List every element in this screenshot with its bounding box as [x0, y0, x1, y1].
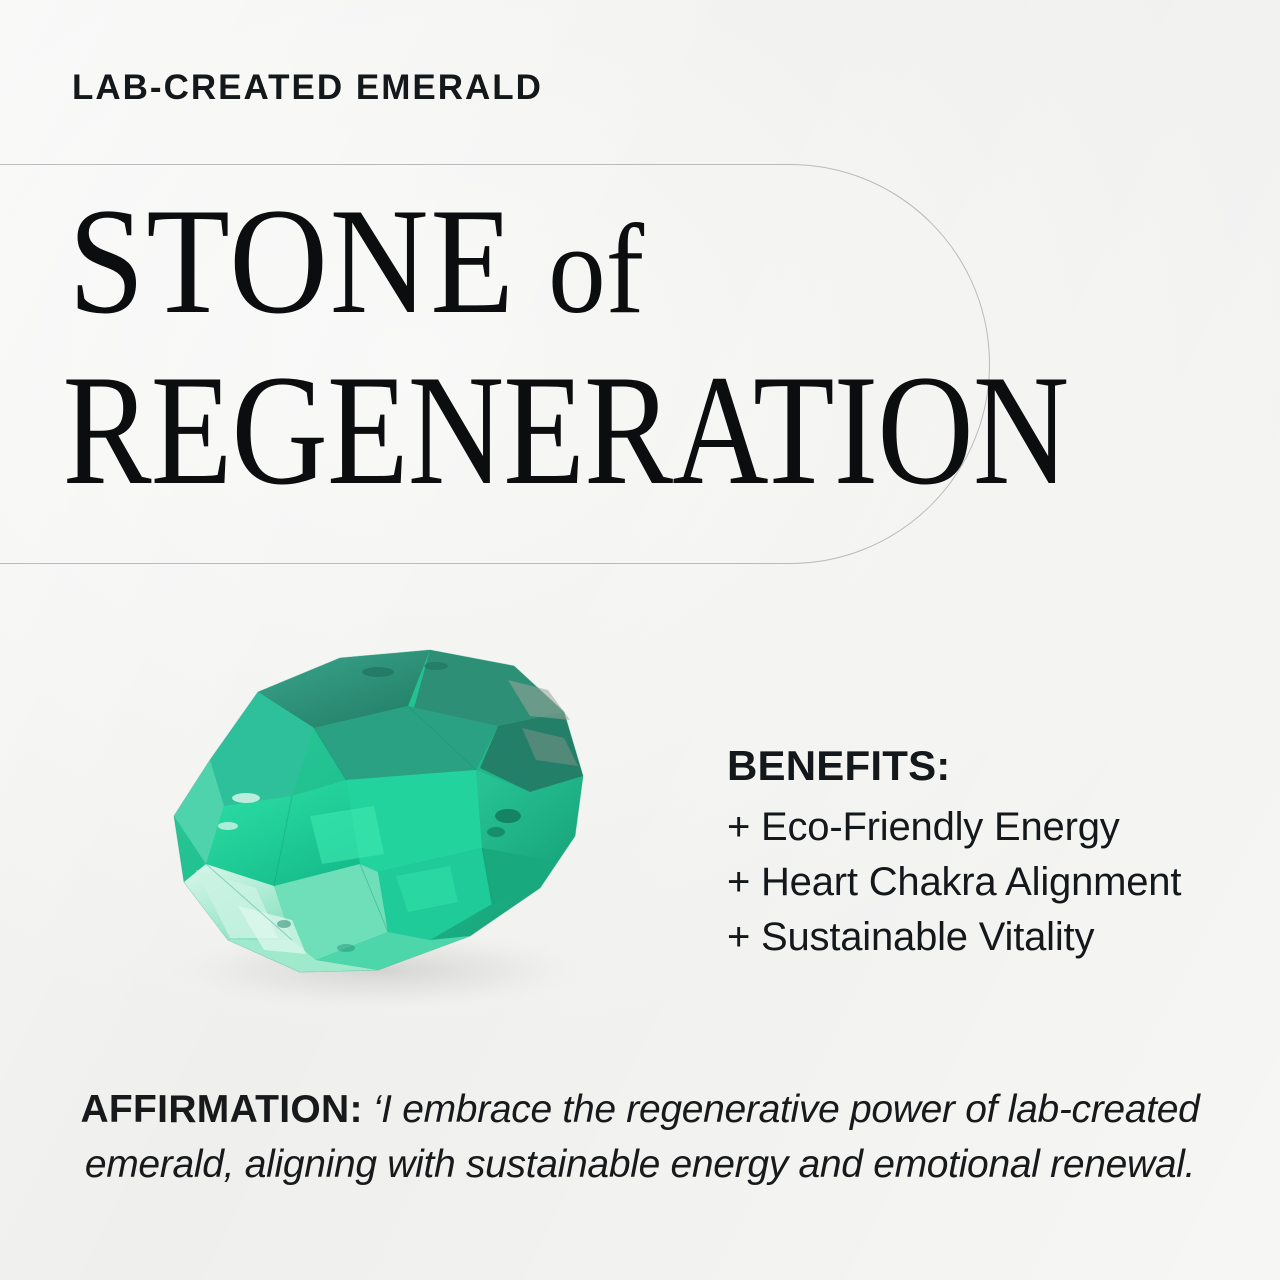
eyebrow-label: LAB-CREATED EMERALD	[72, 68, 543, 108]
poster-canvas: LAB-CREATED EMERALD STONEof REGENERATION	[0, 0, 1280, 1280]
plus-icon: +	[727, 800, 761, 855]
title-line-one: STONEof	[0, 190, 1152, 333]
affirmation-section: AFFIRMATION:‘I embrace the regenerative …	[64, 1082, 1216, 1193]
gemstone-image	[78, 620, 618, 1020]
benefit-item: +Sustainable Vitality	[727, 910, 1257, 965]
title-line-two: REGENERATION	[0, 357, 1082, 506]
plus-icon: +	[727, 910, 761, 965]
plus-icon: +	[727, 855, 761, 910]
page-title: STONEof REGENERATION	[0, 190, 1280, 505]
benefit-item: +Heart Chakra Alignment	[727, 855, 1257, 910]
title-word-of: of	[548, 198, 644, 340]
affirmation-label: AFFIRMATION:	[80, 1088, 362, 1131]
benefit-label: Sustainable Vitality	[761, 915, 1094, 959]
emerald-crystal-icon	[78, 620, 618, 1020]
benefits-title: BENEFITS:	[727, 742, 1257, 790]
title-word-stone: STONE	[68, 177, 515, 345]
benefit-label: Heart Chakra Alignment	[761, 860, 1181, 904]
benefits-section: BENEFITS: +Eco-Friendly Energy +Heart Ch…	[727, 742, 1257, 966]
benefit-item: +Eco-Friendly Energy	[727, 800, 1257, 855]
benefit-label: Eco-Friendly Energy	[761, 805, 1120, 849]
